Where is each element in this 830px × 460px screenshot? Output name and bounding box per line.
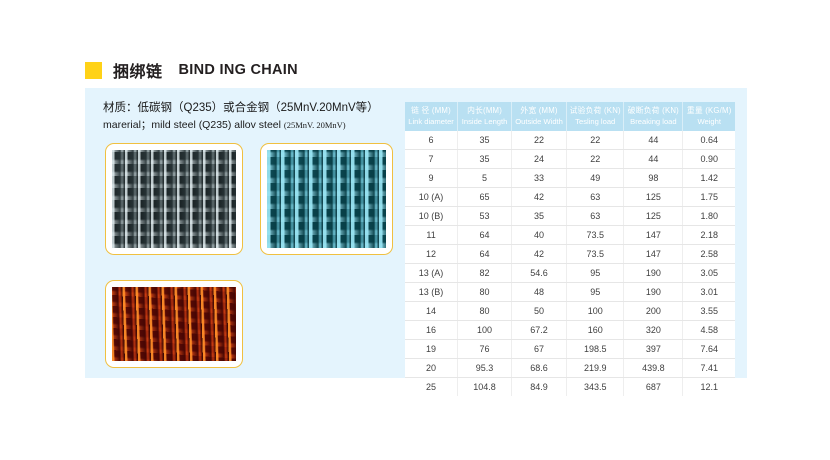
table-cell: 13 (A) xyxy=(405,264,458,283)
chain-texture-blue xyxy=(267,150,386,248)
header-en: Inside Length xyxy=(459,116,510,127)
galvanized-chain-photo xyxy=(105,143,243,255)
page-title: 捆绑链 BIND ING CHAIN xyxy=(85,58,298,82)
table-cell: 80 xyxy=(458,283,512,302)
table-cell: 3.05 xyxy=(683,264,735,283)
table-cell: 320 xyxy=(624,321,683,340)
table-cell: 397 xyxy=(624,340,683,359)
table-cell: 200 xyxy=(624,302,683,321)
table-cell: 12 xyxy=(405,245,458,264)
table-cell: 64 xyxy=(458,226,512,245)
table-cell: 25 xyxy=(405,378,458,397)
table-header-weight: 重量 (KG/M) Weight xyxy=(683,102,735,131)
table-cell: 67 xyxy=(512,340,567,359)
header-cn: 试验负荷 (KN) xyxy=(568,105,622,116)
table-cell: 160 xyxy=(567,321,624,340)
table-cell: 22 xyxy=(567,150,624,169)
header-cn: 链 径 (MM) xyxy=(406,105,456,116)
table-row: 6352222440.64 xyxy=(405,131,735,150)
table-cell: 80 xyxy=(458,302,512,321)
table-row: 2095.368.6219.9439.87.41 xyxy=(405,359,735,378)
table-row: 7352422440.90 xyxy=(405,150,735,169)
table-cell: 24 xyxy=(512,150,567,169)
header-en: Outside Width xyxy=(513,116,565,127)
table-cell: 19 xyxy=(405,340,458,359)
table-cell: 6 xyxy=(405,131,458,150)
table-cell: 67.2 xyxy=(512,321,567,340)
table-cell: 35 xyxy=(458,150,512,169)
table-head: 链 径 (MM) Link diameter 内长(MM) Inside Len… xyxy=(405,102,735,131)
table-cell: 64 xyxy=(458,245,512,264)
table-cell: 12.1 xyxy=(683,378,735,397)
table-cell: 95.3 xyxy=(458,359,512,378)
table-row: 10 (A)6542631251.75 xyxy=(405,188,735,207)
galvanized-chain-photo-image xyxy=(112,150,236,248)
table-cell: 125 xyxy=(624,207,683,226)
header-en: Tesling load xyxy=(568,116,622,127)
specification-table: 链 径 (MM) Link diameter 内长(MM) Inside Len… xyxy=(405,102,735,396)
header-cn: 破断负荷 (KN) xyxy=(625,105,681,116)
table-cell: 343.5 xyxy=(567,378,624,397)
title-bullet-icon xyxy=(85,62,102,79)
table-cell: 7.41 xyxy=(683,359,735,378)
table-cell: 49 xyxy=(567,169,624,188)
table-row: 12644273.51472.58 xyxy=(405,245,735,264)
table-cell: 147 xyxy=(624,226,683,245)
header-cn: 外宽 (MM) xyxy=(513,105,565,116)
table-cell: 42 xyxy=(512,188,567,207)
table-row: 953349981.42 xyxy=(405,169,735,188)
table-cell: 22 xyxy=(567,131,624,150)
table-cell: 35 xyxy=(458,131,512,150)
table-row: 1610067.21603204.58 xyxy=(405,321,735,340)
table-cell: 100 xyxy=(458,321,512,340)
table-cell: 2.58 xyxy=(683,245,735,264)
table-header-inside-length: 内长(MM) Inside Length xyxy=(458,102,512,131)
material-spec-en-main: marerial；mild steel (Q235) allov steel xyxy=(103,119,284,131)
table-cell: 13 (B) xyxy=(405,283,458,302)
table-header-row: 链 径 (MM) Link diameter 内长(MM) Inside Len… xyxy=(405,102,735,131)
table-row: 13 (A)8254.6951903.05 xyxy=(405,264,735,283)
header-cn: 重量 (KG/M) xyxy=(684,105,734,116)
table-cell: 48 xyxy=(512,283,567,302)
red-chain-photo xyxy=(105,280,243,368)
table-cell: 0.64 xyxy=(683,131,735,150)
content-panel: 材质：低碳钢（Q235）或合金钢（25MnV.20MnV等） marerial；… xyxy=(85,88,747,378)
table-cell: 84.9 xyxy=(512,378,567,397)
table-cell: 63 xyxy=(567,188,624,207)
table-row: 25104.884.9343.568712.1 xyxy=(405,378,735,397)
header-en: Weight xyxy=(684,116,734,127)
table-cell: 100 xyxy=(567,302,624,321)
material-spec-cn: 材质：低碳钢（Q235）或合金钢（25MnV.20MnV等） xyxy=(103,100,403,117)
table-cell: 0.90 xyxy=(683,150,735,169)
page-root: 捆绑链 BIND ING CHAIN 材质：低碳钢（Q235）或合金钢（25Mn… xyxy=(0,0,830,460)
table-cell: 73.5 xyxy=(567,245,624,264)
table-cell: 11 xyxy=(405,226,458,245)
table-cell: 33 xyxy=(512,169,567,188)
table-cell: 198.5 xyxy=(567,340,624,359)
material-spec: 材质：低碳钢（Q235）或合金钢（25MnV.20MnV等） marerial；… xyxy=(103,100,403,133)
table-body: 6352222440.647352422440.90953349981.4210… xyxy=(405,131,735,396)
header-cn: 内长(MM) xyxy=(459,105,510,116)
page-title-en: BIND ING CHAIN xyxy=(179,62,298,78)
blue-chain-photo xyxy=(260,143,393,255)
table-cell: 10 (A) xyxy=(405,188,458,207)
table-cell: 1.42 xyxy=(683,169,735,188)
table-cell: 44 xyxy=(624,150,683,169)
table-cell: 73.5 xyxy=(567,226,624,245)
table-header-breaking-load: 破断负荷 (KN) Breaking load xyxy=(624,102,683,131)
table-cell: 14 xyxy=(405,302,458,321)
table-cell: 3.01 xyxy=(683,283,735,302)
table-cell: 95 xyxy=(567,264,624,283)
table-cell: 63 xyxy=(567,207,624,226)
table-cell: 2.18 xyxy=(683,226,735,245)
table-row: 11644073.51472.18 xyxy=(405,226,735,245)
header-en: Link diameter xyxy=(406,116,456,127)
table-cell: 95 xyxy=(567,283,624,302)
table-cell: 65 xyxy=(458,188,512,207)
material-spec-en: marerial；mild steel (Q235) allov steel (… xyxy=(103,117,403,133)
table-cell: 147 xyxy=(624,245,683,264)
table-cell: 219.9 xyxy=(567,359,624,378)
table-cell: 7 xyxy=(405,150,458,169)
table-cell: 44 xyxy=(624,131,683,150)
table-cell: 439.8 xyxy=(624,359,683,378)
red-chain-photo-image xyxy=(112,287,236,361)
material-spec-en-grades: (25MnV. 20MnV) xyxy=(284,120,346,130)
table-header-testing-load: 试验负荷 (KN) Tesling load xyxy=(567,102,624,131)
table-row: 197667198.53977.64 xyxy=(405,340,735,359)
table-cell: 40 xyxy=(512,226,567,245)
specification-table-wrapper: 链 径 (MM) Link diameter 内长(MM) Inside Len… xyxy=(405,102,735,396)
chain-texture-red xyxy=(112,287,236,361)
table-cell: 190 xyxy=(624,283,683,302)
header-en: Breaking load xyxy=(625,116,681,127)
table-header-outside-width: 外宽 (MM) Outside Width xyxy=(512,102,567,131)
table-cell: 82 xyxy=(458,264,512,283)
table-cell: 98 xyxy=(624,169,683,188)
table-cell: 10 (B) xyxy=(405,207,458,226)
table-cell: 22 xyxy=(512,131,567,150)
table-cell: 42 xyxy=(512,245,567,264)
table-cell: 190 xyxy=(624,264,683,283)
table-cell: 35 xyxy=(512,207,567,226)
table-cell: 4.58 xyxy=(683,321,735,340)
table-cell: 20 xyxy=(405,359,458,378)
table-cell: 68.6 xyxy=(512,359,567,378)
table-cell: 76 xyxy=(458,340,512,359)
table-cell: 16 xyxy=(405,321,458,340)
table-cell: 54.6 xyxy=(512,264,567,283)
table-cell: 7.64 xyxy=(683,340,735,359)
table-cell: 125 xyxy=(624,188,683,207)
table-cell: 9 xyxy=(405,169,458,188)
page-title-cn: 捆绑链 xyxy=(113,58,163,82)
table-cell: 50 xyxy=(512,302,567,321)
table-row: 1480501002003.55 xyxy=(405,302,735,321)
table-cell: 1.75 xyxy=(683,188,735,207)
table-header-link-diameter: 链 径 (MM) Link diameter xyxy=(405,102,458,131)
table-cell: 5 xyxy=(458,169,512,188)
table-row: 13 (B)8048951903.01 xyxy=(405,283,735,302)
table-cell: 3.55 xyxy=(683,302,735,321)
table-cell: 53 xyxy=(458,207,512,226)
table-cell: 687 xyxy=(624,378,683,397)
table-row: 10 (B)5335631251.80 xyxy=(405,207,735,226)
blue-chain-photo-image xyxy=(267,150,386,248)
table-cell: 104.8 xyxy=(458,378,512,397)
chain-texture-steel xyxy=(112,150,236,248)
table-cell: 1.80 xyxy=(683,207,735,226)
